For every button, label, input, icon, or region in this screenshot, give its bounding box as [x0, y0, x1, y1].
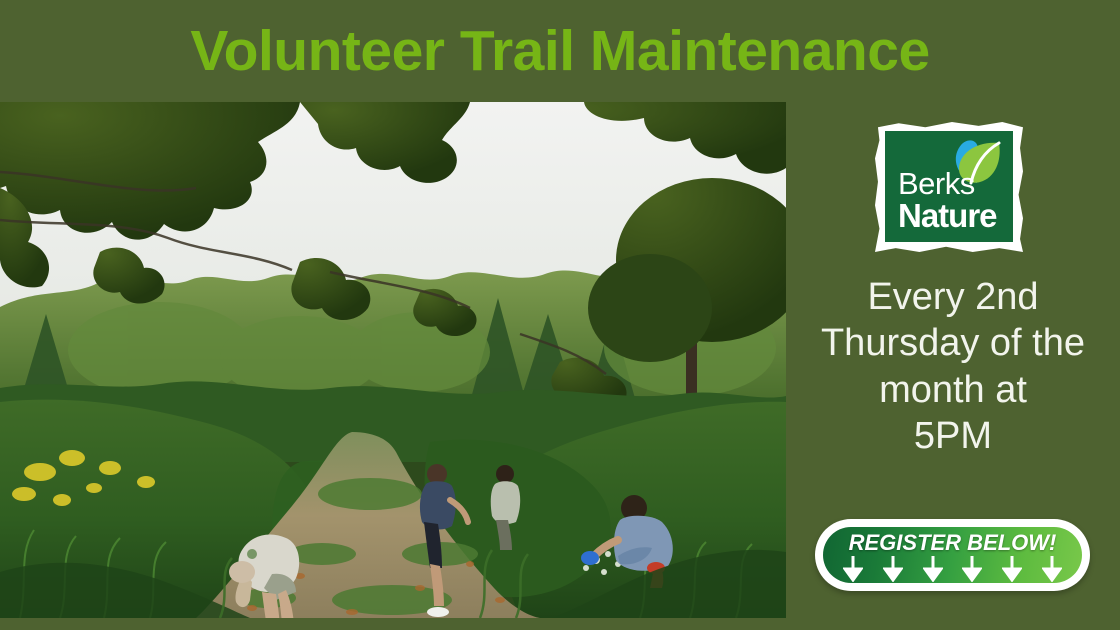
- down-arrow-icon: [1002, 556, 1022, 582]
- page-title: Volunteer Trail Maintenance: [190, 23, 929, 80]
- title-bar: Volunteer Trail Maintenance: [0, 0, 1120, 102]
- blue-glove: [581, 551, 599, 565]
- register-below-button[interactable]: REGISTER BELOW!: [815, 519, 1090, 591]
- down-arrow-icon: [1042, 556, 1062, 582]
- logo-panel: Berks Nature: [885, 131, 1013, 242]
- schedule-line-2: Thursday of the: [792, 320, 1114, 366]
- schedule-line-1: Every 2nd: [792, 274, 1114, 320]
- trail-maintenance-photo: [0, 102, 786, 618]
- schedule-text: Every 2nd Thursday of the month at 5PM: [792, 274, 1114, 459]
- register-button-label: REGISTER BELOW!: [823, 530, 1082, 556]
- schedule-line-3: month at: [792, 367, 1114, 413]
- logo-wordmark: Berks Nature: [898, 169, 997, 232]
- logo-text-berks: Berks: [898, 169, 997, 199]
- register-button-face[interactable]: REGISTER BELOW!: [823, 527, 1082, 583]
- down-arrow-icon: [962, 556, 982, 582]
- down-arrow-icon: [843, 556, 863, 582]
- photo-artwork: [0, 102, 786, 618]
- logo-text-nature: Nature: [898, 200, 997, 232]
- info-panel: Berks Nature Every 2nd Thursday of the m…: [786, 102, 1120, 630]
- poster-canvas: Volunteer Trail Maintenance: [0, 0, 1120, 630]
- down-arrow-icon: [923, 556, 943, 582]
- down-arrow-icon: [883, 556, 903, 582]
- down-arrow-row: [833, 556, 1072, 582]
- schedule-line-4: 5PM: [792, 413, 1114, 459]
- berks-nature-logo: Berks Nature: [875, 122, 1023, 252]
